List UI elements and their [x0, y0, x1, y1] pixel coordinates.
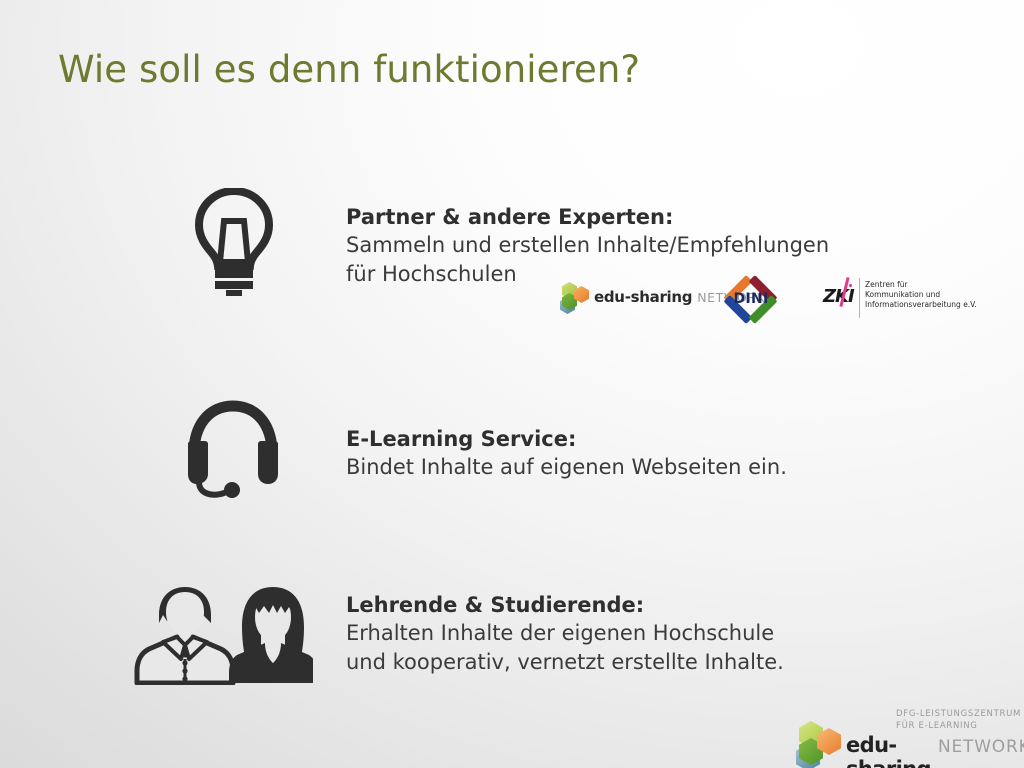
- lightbulb-icon: [193, 188, 275, 296]
- row-text-elearning: E-Learning Service: Bindet Inhalte auf e…: [346, 425, 787, 482]
- dini-label: DINI: [720, 291, 782, 307]
- zki-subtitle-line-3: Informationsverarbeitung e.V.: [865, 300, 977, 310]
- row-line-elearning-1: Bindet Inhalte auf eigenen Webseiten ein…: [346, 453, 787, 482]
- zki-divider: [859, 278, 860, 318]
- dini-logo: DINI: [720, 272, 782, 326]
- page-title: Wie soll es denn funktionieren?: [58, 48, 640, 91]
- footer-network-label: NETWORK: [938, 737, 1024, 757]
- row-line-lehrende-1: Erhalten Inhalte der eigenen Hochschule: [346, 619, 784, 648]
- zki-letters: ZKI: [823, 286, 854, 307]
- partner-logo-strip: edu-sharing NETWORK DINI ZKI Zentre: [560, 268, 960, 330]
- edu-sharing-hexagon-cluster-icon: [560, 282, 590, 312]
- zki-subtitle-line-2: Kommunikation und: [865, 290, 977, 300]
- row-line-partner-1: Sammeln und erstellen Inhalte/Empfehlung…: [346, 231, 829, 260]
- footer-tagline-line-2: FÜR E-LEARNING: [896, 721, 1024, 733]
- row-heading-lehrende: Lehrende & Studierende:: [346, 591, 784, 619]
- zki-mark-icon: ZKI: [823, 278, 857, 308]
- edu-sharing-hexagon-cluster-icon: [796, 721, 842, 767]
- row-text-lehrende: Lehrende & Studierende: Erhalten Inhalte…: [346, 591, 784, 677]
- zki-subtitle: Zentren für Kommunikation und Informatio…: [865, 278, 977, 310]
- footer-tagline: DFG-LEISTUNGSZENTRUM FÜR E-LEARNING: [896, 709, 1024, 732]
- footer-edu-sharing-wordmark: edu-sharing: [846, 733, 931, 768]
- people-icon: [133, 585, 313, 685]
- edu-sharing-wordmark: edu-sharing: [594, 288, 692, 306]
- footer-tagline-line-1: DFG-LEISTUNGSZENTRUM: [896, 709, 1024, 721]
- row-heading-elearning: E-Learning Service:: [346, 425, 787, 453]
- slide-canvas: Wie soll es denn funktionieren? Partner …: [0, 0, 1024, 768]
- zki-logo: ZKI Zentren für Kommunikation und Inform…: [823, 278, 977, 318]
- headset-icon: [182, 398, 284, 498]
- row-line-lehrende-2: und kooperativ, vernetzt erstellte Inhal…: [346, 648, 784, 677]
- row-heading-partner: Partner & andere Experten:: [346, 203, 829, 231]
- footer-edu-sharing-logo: DFG-LEISTUNGSZENTRUM FÜR E-LEARNING edu-…: [796, 707, 1024, 768]
- zki-subtitle-line-1: Zentren für: [865, 280, 977, 290]
